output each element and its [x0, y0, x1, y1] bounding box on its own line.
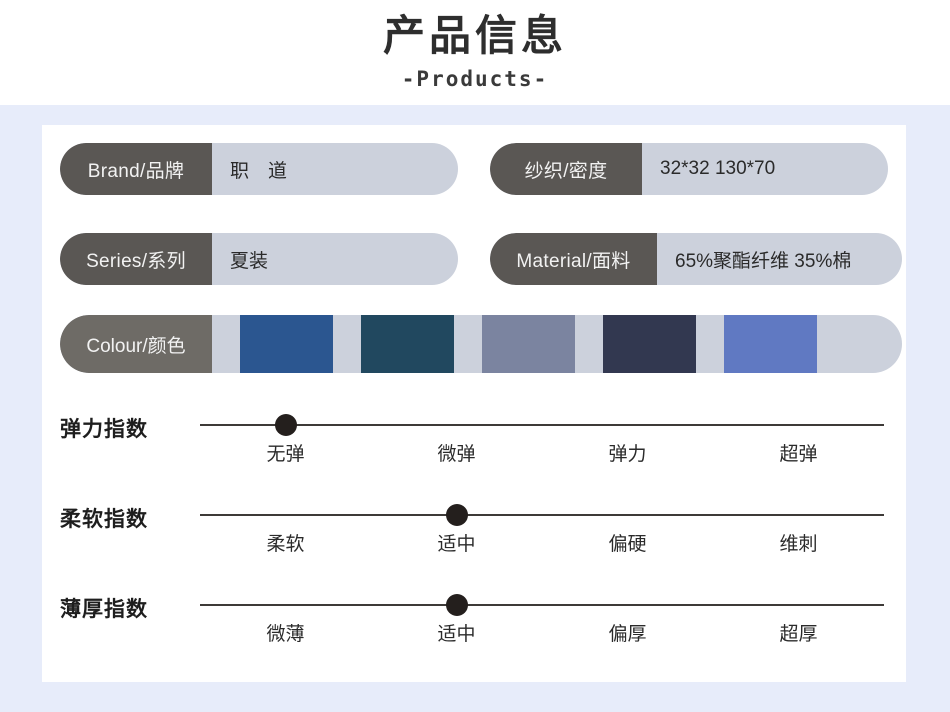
index-title-thickness: 薄厚指数 — [60, 593, 190, 623]
spec-value-brand: 职 道 — [212, 143, 458, 195]
index-title-softness: 柔软指数 — [60, 503, 190, 533]
swatch-slate-blue-gray[interactable] — [482, 315, 575, 373]
index-tick-thickness-3[interactable]: 超厚 — [713, 619, 884, 646]
index-line-elasticity — [200, 424, 884, 426]
index-tick-softness-2[interactable]: 偏硬 — [542, 529, 713, 556]
index-tick-softness-3[interactable]: 维刺 — [713, 529, 884, 556]
spec-label-yarn: 纱织/密度 — [490, 143, 642, 195]
colour-label: Colour/颜色 — [60, 315, 212, 373]
swatch-periwinkle[interactable] — [724, 315, 817, 373]
colour-swatch-gap — [454, 315, 482, 373]
index-tick-softness-0[interactable]: 柔软 — [200, 529, 371, 556]
page-subtitle: -Products- — [402, 64, 548, 94]
index-track-thickness[interactable]: 微薄适中偏厚超厚 — [200, 583, 884, 655]
index-tick-elasticity-0[interactable]: 无弹 — [200, 439, 371, 466]
colour-swatch-gap — [696, 315, 724, 373]
index-dot-thickness[interactable] — [446, 594, 468, 616]
index-track-elasticity[interactable]: 无弹微弹弹力超弹 — [200, 403, 884, 475]
index-line-softness — [200, 514, 884, 516]
spec-row-series: Series/系列 夏装 — [60, 233, 458, 285]
colour-swatch-strip — [212, 315, 902, 373]
spec-row-material: Material/面料 65%聚酯纤维 35%棉 — [490, 233, 902, 285]
spec-pill-series: Series/系列 夏装 — [60, 233, 458, 285]
swatch-deep-teal[interactable] — [361, 315, 454, 373]
spec-pill-yarn: 纱织/密度 32*32 130*70 — [490, 143, 888, 195]
spec-label-material: Material/面料 — [490, 233, 657, 285]
index-row-softness: 柔软指数 柔软适中偏硬维刺 — [60, 493, 884, 565]
swatch-dark-navy[interactable] — [603, 315, 696, 373]
index-line-thickness — [200, 604, 884, 606]
product-info-panel: Brand/品牌 职 道 纱织/密度 32*32 130*70 Series/系… — [0, 105, 950, 712]
index-tick-elasticity-2[interactable]: 弹力 — [542, 439, 713, 466]
colour-swatch-gap — [333, 315, 361, 373]
spec-pill-brand: Brand/品牌 职 道 — [60, 143, 458, 195]
index-row-thickness: 薄厚指数 微薄适中偏厚超厚 — [60, 583, 884, 655]
index-tick-elasticity-3[interactable]: 超弹 — [713, 439, 884, 466]
index-tick-thickness-1[interactable]: 适中 — [371, 619, 542, 646]
index-tick-elasticity-1[interactable]: 微弹 — [371, 439, 542, 466]
spec-row-yarn: 纱织/密度 32*32 130*70 — [490, 143, 888, 195]
index-ticks-elasticity: 无弹微弹弹力超弹 — [200, 439, 884, 466]
index-ticks-thickness: 微薄适中偏厚超厚 — [200, 619, 884, 646]
index-dot-softness[interactable] — [446, 504, 468, 526]
product-info-card: Brand/品牌 职 道 纱织/密度 32*32 130*70 Series/系… — [42, 125, 906, 682]
index-row-elasticity: 弹力指数 无弹微弹弹力超弹 — [60, 403, 884, 475]
spec-value-yarn: 32*32 130*70 — [642, 143, 888, 195]
colour-pill: Colour/颜色 — [60, 315, 902, 373]
swatch-royal-blue[interactable] — [240, 315, 333, 373]
index-track-softness[interactable]: 柔软适中偏硬维刺 — [200, 493, 884, 565]
spec-pill-material: Material/面料 65%聚酯纤维 35%棉 — [490, 233, 902, 285]
colour-swatch-gap — [575, 315, 603, 373]
index-dot-elasticity[interactable] — [275, 414, 297, 436]
index-title-elasticity: 弹力指数 — [60, 413, 190, 443]
spec-label-brand: Brand/品牌 — [60, 143, 212, 195]
spec-row-colour: Colour/颜色 — [60, 315, 902, 373]
index-tick-softness-1[interactable]: 适中 — [371, 529, 542, 556]
index-tick-thickness-2[interactable]: 偏厚 — [542, 619, 713, 646]
index-ticks-softness: 柔软适中偏硬维刺 — [200, 529, 884, 556]
spec-value-material: 65%聚酯纤维 35%棉 — [657, 233, 902, 285]
colour-swatch-tail — [817, 315, 902, 373]
spec-value-series: 夏装 — [212, 233, 458, 285]
page-title: 产品信息 — [383, 8, 567, 64]
index-tick-thickness-0[interactable]: 微薄 — [200, 619, 371, 646]
spec-label-series: Series/系列 — [60, 233, 212, 285]
page-header: 产品信息 -Products- — [0, 0, 950, 105]
colour-swatch-gap — [212, 315, 240, 373]
spec-row-brand: Brand/品牌 职 道 — [60, 143, 458, 195]
